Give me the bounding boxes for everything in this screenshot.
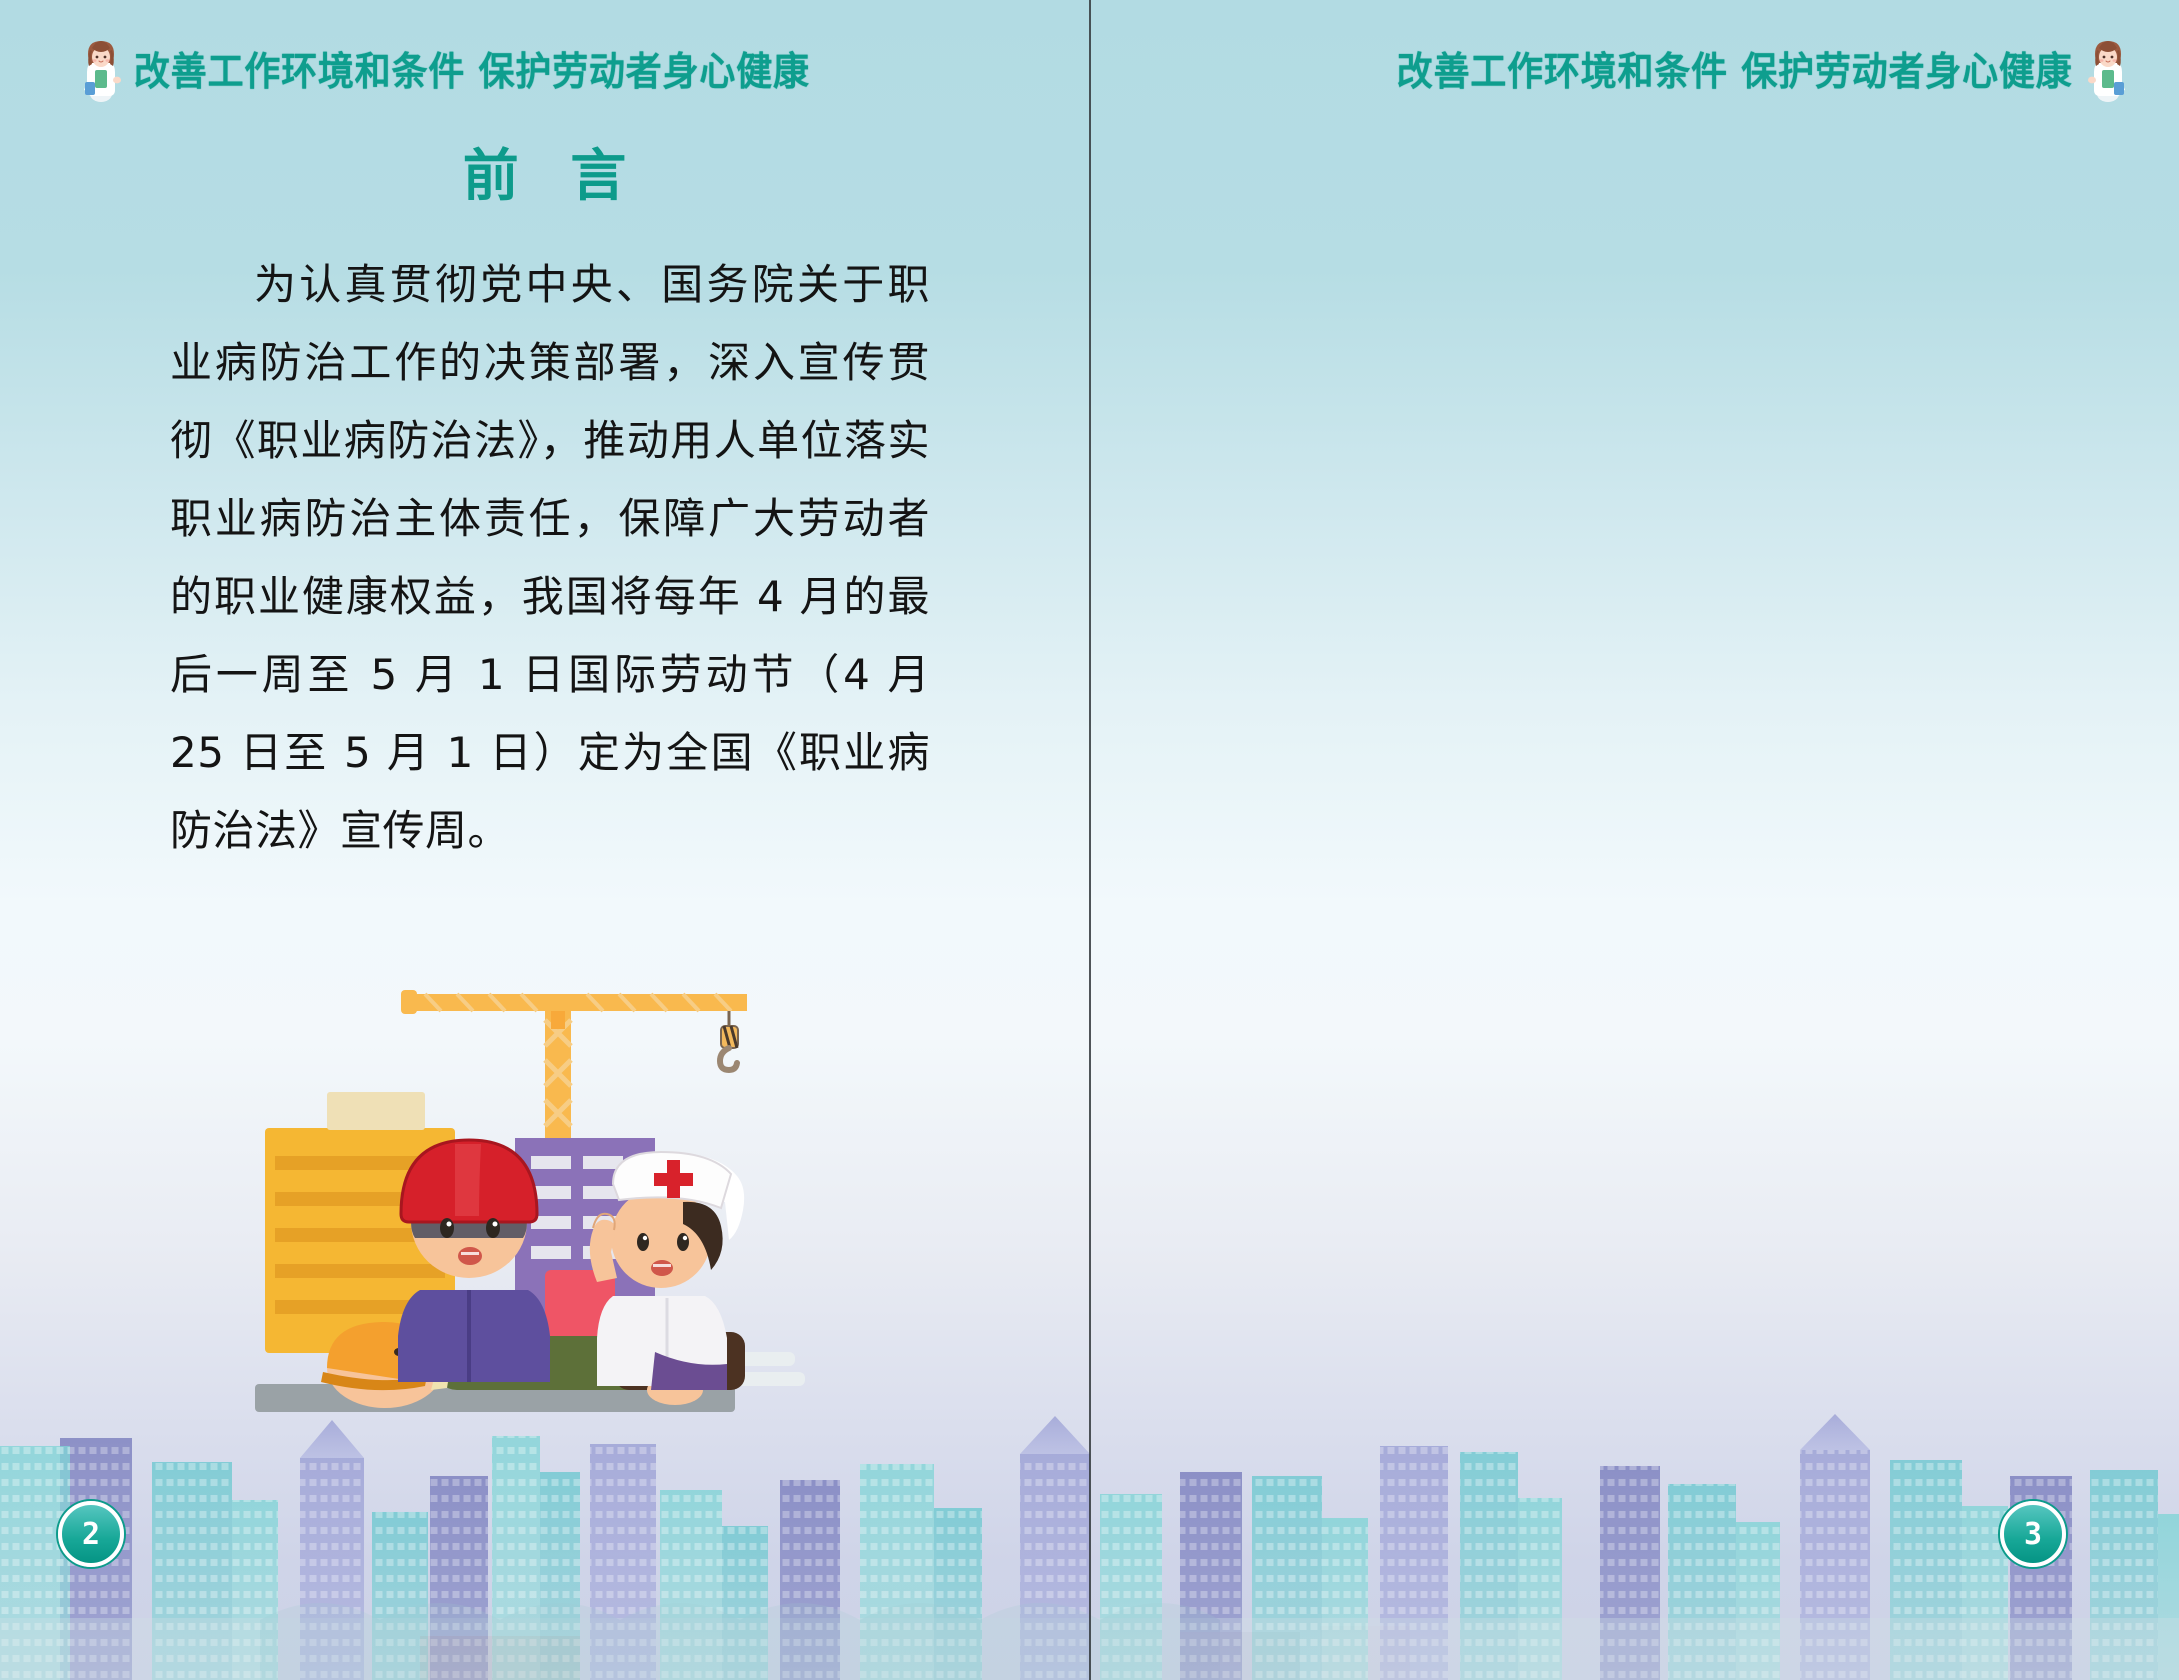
left-body-text: 为认真贯彻党中央、国务院关于职业病防治工作的决策部署，深入宣传贯彻《职业病防治法… (170, 246, 930, 870)
page-number-left: 2 (58, 1501, 124, 1567)
left-page-header: 改善工作环境和条件 保护劳动者身心健康 (78, 38, 869, 100)
page-number-right: 3 (2000, 1501, 2066, 1567)
right-page-header: 改善工作环境和条件 保护劳动者身心健康 (1338, 38, 2131, 100)
left-body-paragraph: 为认真贯彻党中央、国务院关于职业病防治工作的决策部署，深入宣传贯彻《职业病防治法… (170, 246, 930, 870)
doctor-icon (78, 36, 124, 102)
right-header-slogan: 改善工作环境和条件 保护劳动者身心健康 (1397, 41, 2073, 97)
left-page: 改善工作环境和条件 保护劳动者身心健康 前 言 为认真贯彻党中央、国务院关于职业… (0, 0, 1089, 1680)
left-header-slogan: 改善工作环境和条件 保护劳动者身心健康 (134, 41, 810, 97)
page-title: 前 言 (0, 131, 1089, 212)
construction-first-aid-illustration (215, 960, 835, 1430)
doctor-icon (2085, 36, 2131, 102)
right-page: 改善工作环境和条件 保护劳动者身心健康 (1090, 0, 2179, 1680)
